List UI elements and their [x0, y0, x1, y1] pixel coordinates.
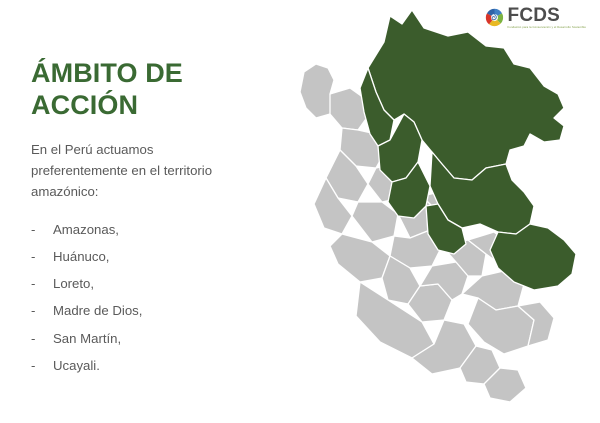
list-item: - San Martín, [31, 332, 299, 345]
lead-paragraph: En el Perú actuamos preferentemente en e… [31, 139, 299, 203]
peru-map [272, 2, 598, 422]
slide: FCDS Fundación para la Conservación y el… [0, 0, 600, 423]
list-item: - Madre de Dios, [31, 304, 299, 317]
bullet-marker: - [31, 250, 53, 263]
map-region [330, 234, 390, 282]
bullet-marker: - [31, 332, 53, 345]
peru-map-svg [272, 2, 598, 422]
bullet-marker: - [31, 277, 53, 290]
list-item-label: San Martín, [53, 332, 121, 345]
bullet-marker: - [31, 304, 53, 317]
list-item: - Loreto, [31, 277, 299, 290]
list-item-label: Huánuco, [53, 250, 109, 263]
bullet-marker: - [31, 223, 53, 236]
list-item-label: Amazonas, [53, 223, 119, 236]
map-region [352, 202, 398, 242]
text-column: ÁMBITO DE ACCIÓN En el Perú actuamos pre… [31, 58, 299, 386]
list-item-label: Madre de Dios, [53, 304, 142, 317]
list-item-label: Loreto, [53, 277, 94, 290]
list-item-label: Ucayali. [53, 359, 100, 372]
list-item: - Huánuco, [31, 250, 299, 263]
page-title: ÁMBITO DE ACCIÓN [31, 58, 299, 122]
list-item: - Ucayali. [31, 359, 299, 372]
region-list: - Amazonas, - Huánuco, - Loreto, - Madre… [31, 223, 299, 372]
bullet-marker: - [31, 359, 53, 372]
list-item: - Amazonas, [31, 223, 299, 236]
